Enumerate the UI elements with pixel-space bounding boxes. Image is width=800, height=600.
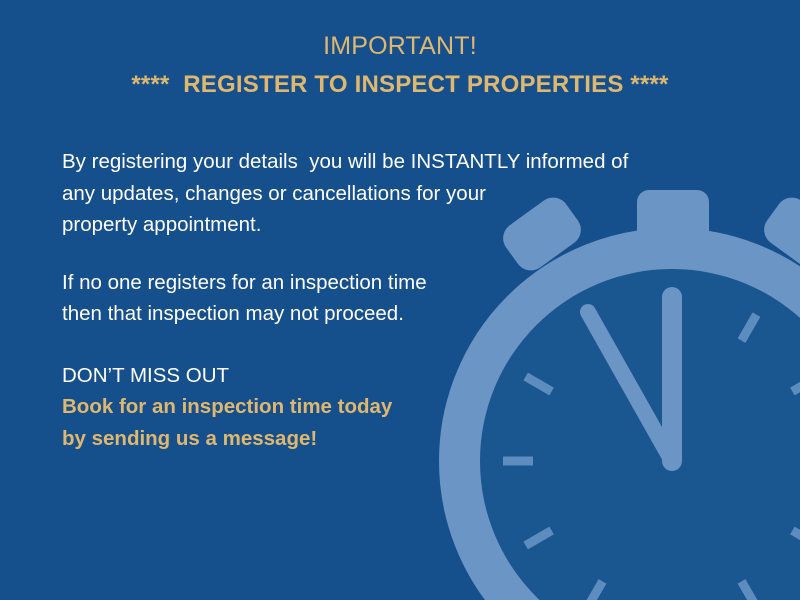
heading-block: IMPORTANT! **** REGISTER TO INSPECT PROP… [0,30,800,102]
cta-line: by sending us a message! [62,423,722,455]
paragraph-registering-benefits: By registering your details you will be … [62,146,722,241]
paragraph-no-registration-warning: If no one registers for an inspection ti… [62,267,722,330]
body-line: then that inspection may not proceed. [62,298,722,330]
page-title-important: IMPORTANT! [0,30,800,62]
body-block: By registering your details you will be … [62,146,722,454]
slide-canvas: IMPORTANT! **** REGISTER TO INSPECT PROP… [0,0,800,600]
cta-line: Book for an inspection time today [62,391,722,423]
body-line: If no one registers for an inspection ti… [62,267,722,299]
page-title-register: **** REGISTER TO INSPECT PROPERTIES **** [0,68,800,102]
body-line: any updates, changes or cancellations fo… [62,178,722,210]
body-line: property appointment. [62,209,722,241]
call-to-action-block: DON’T MISS OUT Book for an inspection ti… [62,360,722,455]
body-line: By registering your details you will be … [62,146,722,178]
cta-headline: DON’T MISS OUT [62,360,722,392]
slide-content: IMPORTANT! **** REGISTER TO INSPECT PROP… [0,0,800,600]
